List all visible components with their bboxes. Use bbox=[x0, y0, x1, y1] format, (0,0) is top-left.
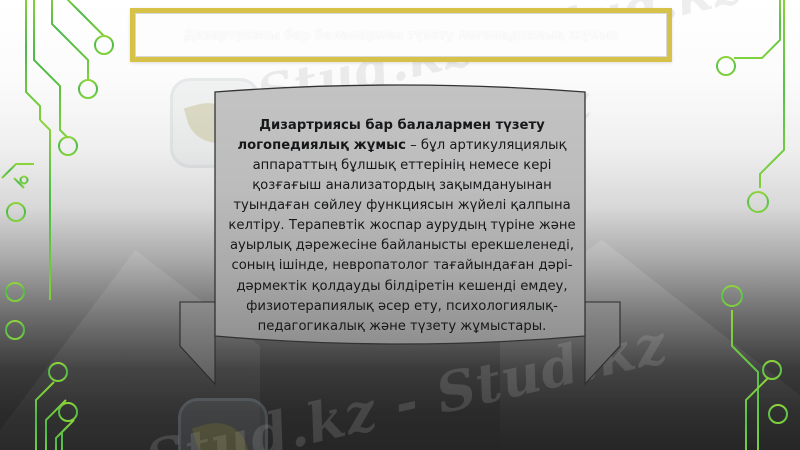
leaf-icon bbox=[192, 415, 250, 450]
circuit-decoration-right bbox=[650, 0, 800, 450]
circuit-decoration-left bbox=[0, 0, 170, 450]
slide-title-box: Дизартриясы бар балалармен түзету логопе… bbox=[130, 8, 672, 62]
content-ribbon-banner: Дизартриясы бар балалармен түзету логопе… bbox=[150, 84, 650, 414]
body-rest: – бұл артикуляциялық аппараттың бұлшық е… bbox=[228, 138, 575, 334]
presentation-slide: Stud.kz - Stud.kz Stud.kz Stud.kz - Stud… bbox=[0, 0, 800, 450]
slide-body-text: Дизартриясы бар балалармен түзету логопе… bbox=[218, 116, 586, 337]
page-title: Дизартриясы бар балалармен түзету логопе… bbox=[170, 27, 633, 43]
slide-title-inner-frame: Дизартриясы бар балалармен түзету логопе… bbox=[135, 13, 667, 57]
